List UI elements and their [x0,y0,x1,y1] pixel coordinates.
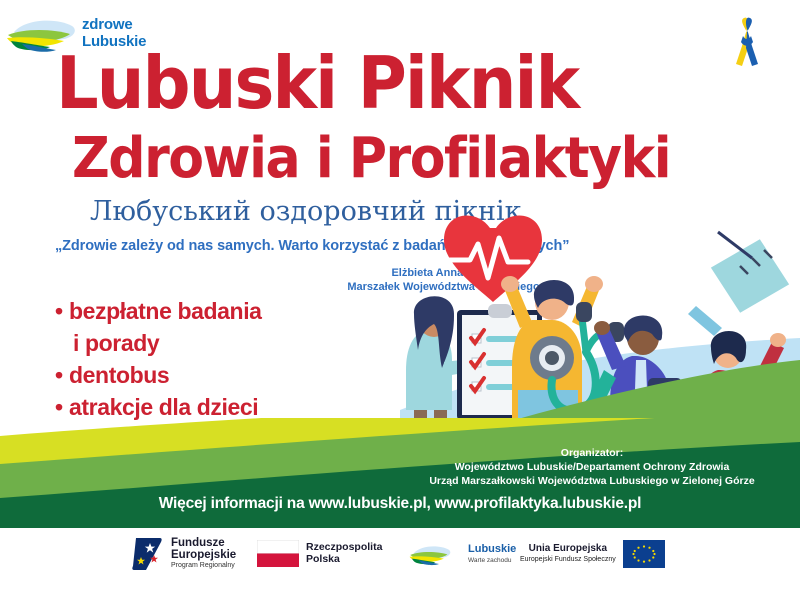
syringe-icon [688,231,797,336]
logo-lubuskie: Lubuskie Warte zachodu [405,540,516,570]
list-item-label: dentobus [69,362,169,388]
lubuskie-swoosh-logo-icon [405,540,461,570]
footer-logo-strip: Fundusze Europejskie Program Regionalny … [0,530,800,578]
list-item-label: atrakcje dla dzieci [69,394,258,420]
list-item: •bezpłatne badania [55,295,375,327]
fundusze-line3: Program Regionalny [171,561,236,570]
rzeczpospolita-line2: Polska [306,554,382,566]
fundusze-line1: Fundusze [171,538,236,550]
logo-unia-text: Unia Europejska Europejski Fundusz Społe… [520,543,616,566]
logo-fundusze-text: Fundusze Europejskie Program Regionalny [171,538,236,570]
organizer-line1: Województwo Lubuskie/Departament Ochrony… [382,460,800,474]
poland-flag-icon [257,540,299,567]
unia-line2: Europejski Fundusz Społeczny [520,554,616,566]
list-item-label: i porady [73,330,159,356]
logo-rzeczpospolita-text: Rzeczpospolita Polska [306,542,382,565]
ukraine-solidarity-ribbon-icon [730,16,764,68]
footer-bar: Fundusze Europejskie Program Regionalny … [0,528,800,600]
page-title: Lubuski Piknik [56,52,707,114]
bullet-marker: • [55,359,69,391]
rzeczpospolita-line1: Rzeczpospolita [306,542,382,554]
organizer-block: Organizator: Województwo Lubuskie/Depart… [382,446,800,488]
logo-lubuskie-text: Lubuskie Warte zachodu [468,544,516,567]
brand-line1: zdrowe [82,16,146,33]
unia-line1: Unia Europejska [520,543,616,555]
logo-unia-europejska: Unia Europejska Europejski Fundusz Społe… [520,540,665,568]
lubuskie-line2: Warte zachodu [468,555,516,567]
list-item: •dentobus [55,359,375,391]
eu-flag-icon [623,540,665,568]
list-item-label: bezpłatne badania [69,298,262,324]
organizer-line2: Urząd Marszałkowski Województwa Lubuskie… [382,474,800,488]
fundusze-line2: Europejskie [171,550,236,562]
page-subtitle: Zdrowia i Profilaktyki [72,133,742,185]
website-link[interactable]: Więcej informacji na www.lubuskie.pl, ww… [0,495,800,513]
logo-fundusze-europejskie: Fundusze Europejskie Program Regionalny [132,536,236,572]
fundusze-europejskie-stars-icon [132,536,164,572]
bullet-marker: • [55,295,69,327]
poster-canvas: zdrowe Lubuskie Lubuski Piknik Zdrowia i… [0,0,800,600]
logo-rzeczpospolita-polska: Rzeczpospolita Polska [257,540,382,567]
health-illustration [400,210,800,445]
organizer-heading: Organizator: [382,446,800,460]
lubuskie-line1: Lubuskie [468,544,516,556]
list-item: i porady [55,327,375,359]
feature-list: •bezpłatne badania i porady •dentobus •a… [55,295,375,423]
heart-ecg-icon [444,216,542,303]
